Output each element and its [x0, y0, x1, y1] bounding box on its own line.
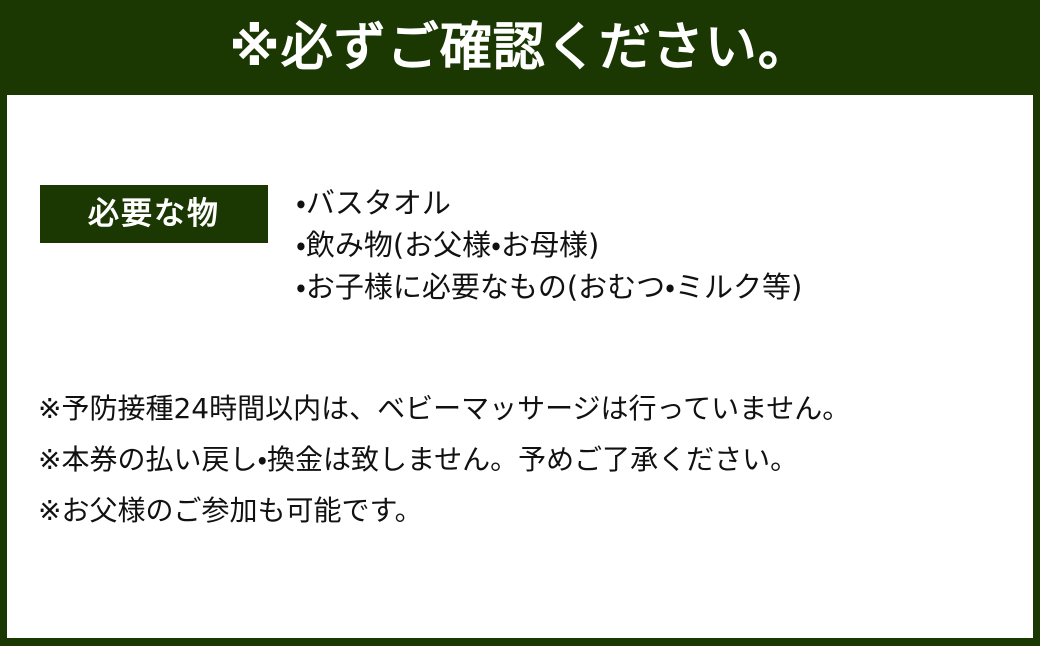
frame-border-left [0, 95, 7, 646]
list-item: ・お子様に必要なもの(おむつ・ミルク等) [296, 266, 802, 308]
header-banner: ※必ずご確認ください。 [0, 0, 1040, 95]
note-line: ※予防接種24時間以内は、ベビーマッサージは行っていません。 [38, 383, 1008, 434]
notice-page: ※必ずご確認ください。 必要な物 ・バスタオル ・飲み物(お父様・お母様) ・お… [0, 0, 1040, 646]
frame-border-bottom [0, 638, 1040, 646]
requirements-label-badge: 必要な物 [40, 185, 268, 243]
list-item: ・バスタオル [296, 182, 802, 224]
notes-section: ※予防接種24時間以内は、ベビーマッサージは行っていません。 ※本券の払い戻し・… [38, 383, 1008, 536]
note-line: ※本券の払い戻し・換金は致しません。予めご了承ください。 [38, 434, 1008, 485]
list-item: ・飲み物(お父様・お母様) [296, 224, 802, 266]
frame-border-right [1033, 95, 1040, 646]
requirements-section: 必要な物 ・バスタオル ・飲み物(お父様・お母様) ・お子様に必要なもの(おむつ… [40, 185, 1000, 308]
requirements-list: ・バスタオル ・飲み物(お父様・お母様) ・お子様に必要なもの(おむつ・ミルク等… [296, 182, 802, 308]
note-line: ※お父様のご参加も可能です。 [38, 485, 1008, 536]
page-title: ※必ずご確認ください。 [229, 22, 811, 74]
